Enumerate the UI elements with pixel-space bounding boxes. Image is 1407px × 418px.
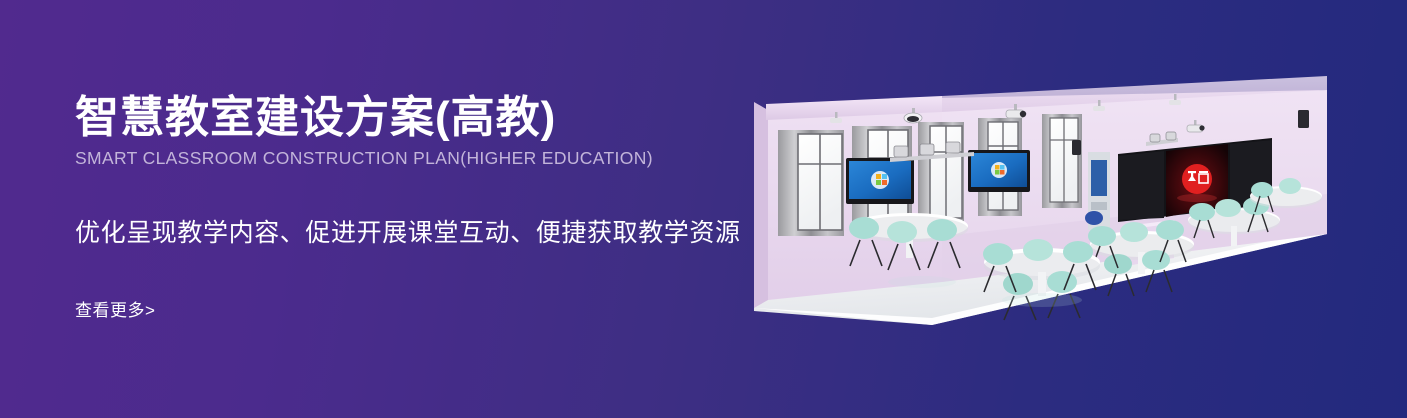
- wall-speaker-left: [1072, 140, 1081, 155]
- classroom-svg: [742, 86, 1342, 326]
- smart-classroom-banner: 智慧教室建设方案(高教) SMART CLASSROOM CONSTRUCTIO…: [0, 0, 1407, 418]
- floor-reflection-2: [888, 276, 956, 288]
- window-bay-1: [778, 130, 844, 236]
- banner-copy: 智慧教室建设方案(高教) SMART CLASSROOM CONSTRUCTIO…: [75, 92, 795, 169]
- window-bay-3: [918, 122, 964, 224]
- view-more-link[interactable]: 查看更多>: [75, 299, 155, 323]
- wall-display-left: [846, 158, 914, 204]
- floor-reflection-1: [1002, 293, 1082, 307]
- wall-speaker-right: [1298, 110, 1309, 128]
- accent-chair-blue: [1085, 211, 1103, 225]
- side-wall-left: [754, 102, 768, 308]
- page-title: 智慧教室建设方案(高教): [75, 92, 795, 144]
- window-bay-5: [1042, 114, 1082, 208]
- banner-tagline: 优化呈现教学内容、促进开展课堂互动、便捷获取教学资源: [75, 216, 741, 250]
- page-subtitle: SMART CLASSROOM CONSTRUCTION PLAN(HIGHER…: [75, 147, 795, 169]
- wall-display-right: [968, 150, 1030, 192]
- classroom-render: [742, 86, 1342, 326]
